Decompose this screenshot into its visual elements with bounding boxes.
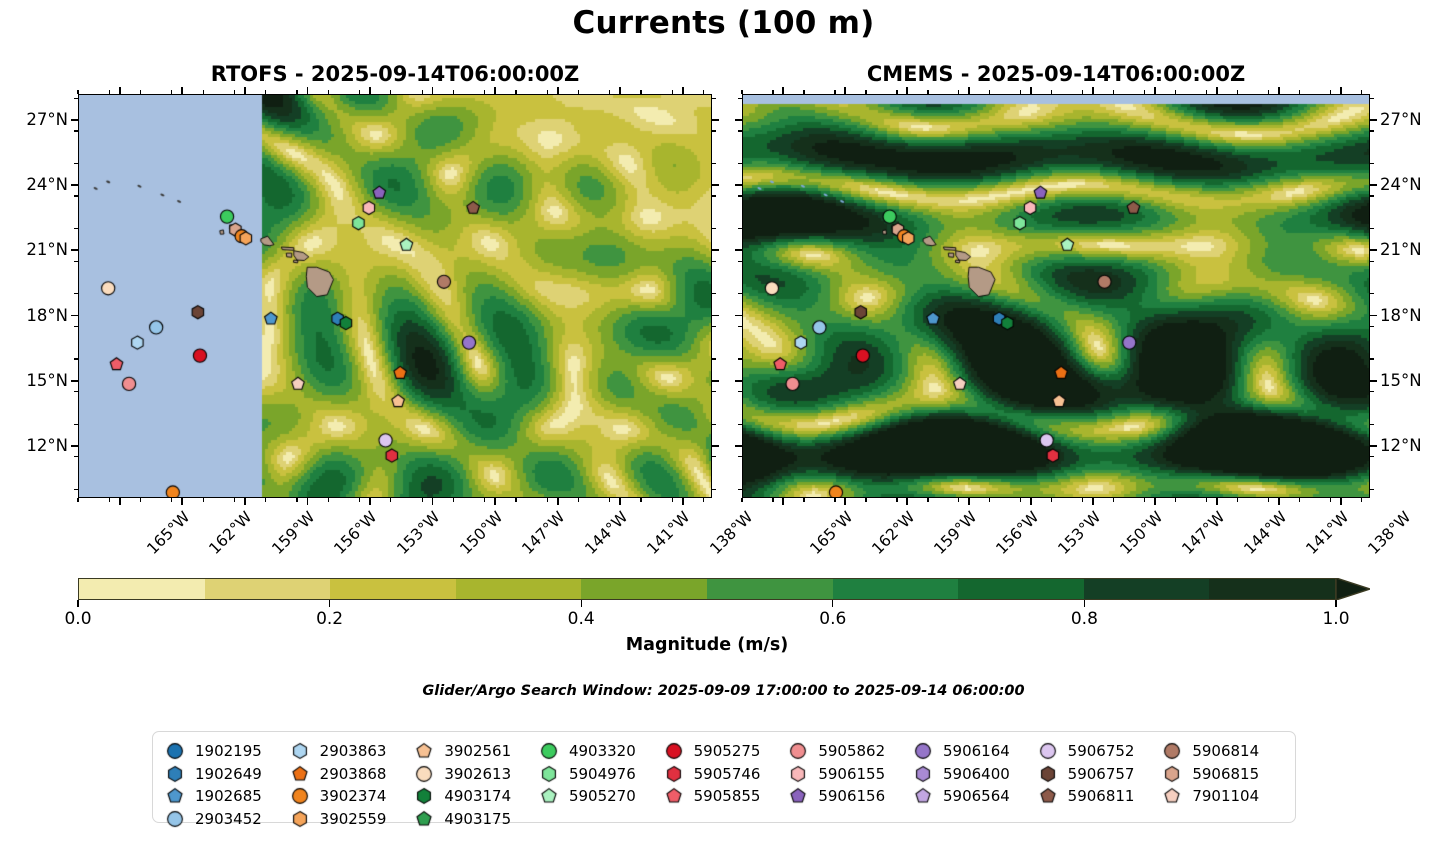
legend-label: 2903452 [187,810,262,828]
colorbar-tick-label: 0.4 [541,609,621,629]
legend-item[interactable]: 5906814 [1160,740,1285,763]
legend-marker-icon [412,763,436,785]
legend-item[interactable]: 7901104 [1160,785,1285,808]
legend-label: 5904976 [561,765,636,783]
legend-marker-icon [163,740,187,762]
legend-label: 5906814 [1184,742,1259,760]
legend-item[interactable]: 5905855 [662,785,787,808]
legend-marker-icon [537,785,561,807]
legend-label: 3902561 [436,742,511,760]
legend-marker-icon [911,763,935,785]
legend-item[interactable]: 1902195 [163,740,288,763]
legend-label: 5906811 [1060,787,1135,805]
legend-item[interactable]: 5906757 [1036,763,1161,786]
legend-item[interactable]: 2903452 [163,808,288,831]
legend-item[interactable]: 5905275 [662,740,787,763]
legend-marker-icon [1160,763,1184,785]
legend-item[interactable]: 5906752 [1036,740,1161,763]
legend-label: 3902374 [312,787,387,805]
legend-label: 3902559 [312,810,387,828]
legend-marker-icon [662,740,686,762]
legend-item[interactable]: 5905270 [537,785,662,808]
legend-item[interactable]: 5906815 [1160,763,1285,786]
legend-marker-icon [1036,763,1060,785]
legend-label: 5905855 [686,787,761,805]
legend-label: 5906757 [1060,765,1135,783]
legend-item[interactable]: 5906564 [911,785,1036,808]
legend-marker-icon [1160,740,1184,762]
legend-marker-icon [786,740,810,762]
legend-label: 4903174 [436,787,511,805]
colorbar-tick-label: 0.0 [38,609,118,629]
colorbar-tick [329,600,330,607]
legend-item[interactable]: 5906164 [911,740,1036,763]
legend-marker-icon [786,763,810,785]
legend-item[interactable]: 2903863 [288,740,413,763]
legend-item[interactable]: 1902685 [163,785,288,808]
legend-marker-icon [1036,740,1060,762]
legend-marker-icon [288,785,312,807]
legend-item[interactable]: 5906156 [786,785,911,808]
legend-marker-icon [662,785,686,807]
legend-label: 4903320 [561,742,636,760]
legend-label: 5906564 [935,787,1010,805]
legend-marker-icon [412,808,436,830]
legend-label: 1902649 [187,765,262,783]
colorbar-tick-label: 0.6 [793,609,873,629]
legend-label: 1902195 [187,742,262,760]
legend-marker-icon [1160,785,1184,807]
legend-item[interactable]: 5905746 [662,763,787,786]
legend-label: 5906155 [810,765,885,783]
legend-label: 5905746 [686,765,761,783]
legend-marker-icon [163,785,187,807]
legend-label: 2903863 [312,742,387,760]
legend-item[interactable]: 5906811 [1036,785,1161,808]
colorbar-label: Magnitude (m/s) [78,635,1336,655]
legend-marker-icon [911,785,935,807]
legend-marker-icon [911,740,935,762]
legend-marker-icon [163,763,187,785]
legend-label: 1902685 [187,787,262,805]
float-id-legend[interactable]: 1902195190264919026852903452290386329038… [152,731,1296,823]
legend-marker-icon [412,785,436,807]
legend-label: 2903868 [312,765,387,783]
legend-label: 5906400 [935,765,1010,783]
legend-item[interactable]: 3902559 [288,808,413,831]
legend-item[interactable]: 4903320 [537,740,662,763]
legend-marker-icon [786,785,810,807]
colorbar-tick [832,600,833,607]
colorbar-tick-label: 0.2 [290,609,370,629]
legend-marker-icon [288,808,312,830]
colorbar-tick-label: 1.0 [1296,609,1376,629]
legend-label: 5906156 [810,787,885,805]
legend-marker-icon [662,763,686,785]
colorbar-tick [1335,600,1336,607]
legend-item[interactable]: 2903868 [288,763,413,786]
legend-marker-icon [288,763,312,785]
legend-item[interactable]: 3902561 [412,740,537,763]
legend-item[interactable]: 3902613 [412,763,537,786]
legend-item[interactable]: 5906400 [911,763,1036,786]
legend-label: 5905862 [810,742,885,760]
legend-item[interactable]: 4903174 [412,785,537,808]
legend-label: 7901104 [1184,787,1259,805]
legend-item[interactable]: 3902374 [288,785,413,808]
legend-label: 3902613 [436,765,511,783]
colorbar-tick [77,600,78,607]
legend-marker-icon [537,740,561,762]
legend-label: 5905270 [561,787,636,805]
legend-marker-icon [163,808,187,830]
legend-label: 4903175 [436,810,511,828]
legend-marker-icon [1036,785,1060,807]
legend-item[interactable]: 5905862 [786,740,911,763]
search-window-text: Glider/Argo Search Window: 2025-09-09 17… [0,683,1447,699]
legend-label: 5906752 [1060,742,1135,760]
colorbar-tick [581,600,582,607]
legend-marker-icon [537,763,561,785]
colorbar-tick-label: 0.8 [1044,609,1124,629]
legend-label: 5906815 [1184,765,1259,783]
legend-label: 5905275 [686,742,761,760]
legend-item[interactable]: 5906155 [786,763,911,786]
colorbar-tick [1084,600,1085,607]
legend-item[interactable]: 5904976 [537,763,662,786]
legend-marker-icon [288,740,312,762]
legend-label: 5906164 [935,742,1010,760]
legend-item[interactable]: 1902649 [163,763,288,786]
legend-marker-icon [412,740,436,762]
legend-item[interactable]: 4903175 [412,808,537,831]
